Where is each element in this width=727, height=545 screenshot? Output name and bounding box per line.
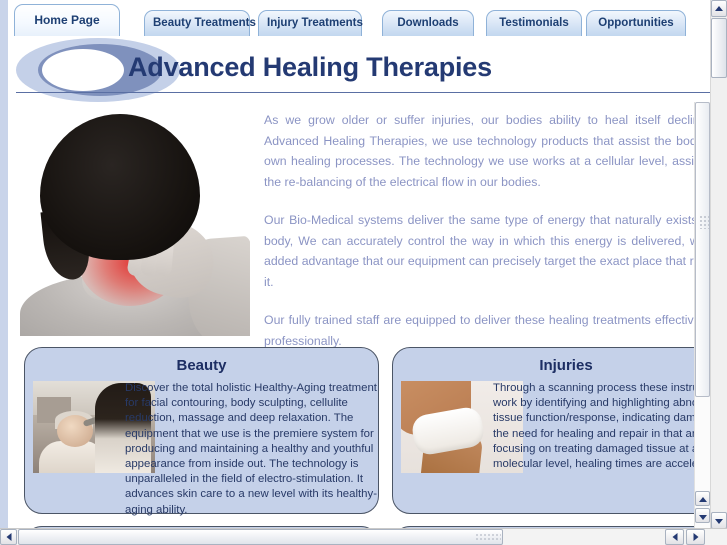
outer-horizontal-scrollbar[interactable]: [0, 528, 727, 545]
triangle-down-icon: [699, 515, 707, 520]
content-scroll-area: As we grow older or suffer injuries, our…: [8, 102, 710, 528]
card-beauty-text: Discover the total holistic Healthy-Agin…: [125, 381, 377, 518]
triangle-up-icon: [715, 6, 723, 11]
card-beauty[interactable]: Beauty Discover the total holistic Healt…: [24, 347, 379, 514]
browser-viewport: Home Page Beauty Treatments Injury Treat…: [0, 0, 727, 545]
tab-downloads[interactable]: Downloads: [382, 10, 474, 36]
tab-bar: Home Page Beauty Treatments Injury Treat…: [8, 0, 710, 36]
logo-white-ellipse: [42, 49, 124, 91]
intro-paragraph-3: Our fully trained staff are equipped to …: [264, 310, 710, 351]
tab-injury-treatments[interactable]: Injury Treatments: [258, 10, 362, 36]
outer-scroll-up-button[interactable]: [711, 0, 727, 17]
triangle-left-icon: [6, 533, 11, 541]
outer-hscrollbar-grip: [475, 533, 501, 542]
outer-scroll-down-button[interactable]: [711, 512, 727, 529]
tab-opportunities[interactable]: Opportunities: [586, 10, 686, 36]
card-injuries[interactable]: Injuries Through a scanning process thes…: [392, 347, 710, 514]
card-injuries-title: Injuries: [393, 357, 710, 374]
triangle-right-icon: [693, 533, 698, 541]
page-document: Home Page Beauty Treatments Injury Treat…: [0, 0, 710, 528]
inner-scroll-up-button[interactable]: [695, 491, 710, 506]
card-injuries-text: Through a scanning process these instrum…: [493, 381, 710, 472]
card-beauty-title: Beauty: [25, 357, 378, 374]
intro-section: As we grow older or suffer injuries, our…: [8, 102, 710, 338]
triangle-up-icon: [699, 497, 707, 502]
outer-hscrollbar-thumb[interactable]: [18, 529, 503, 545]
outer-scroll-left-button-2[interactable]: [665, 529, 684, 545]
hero-hair-shape: [40, 114, 200, 260]
tab-testimonials[interactable]: Testimonials: [486, 10, 582, 36]
outer-vertical-scrollbar[interactable]: [710, 0, 727, 529]
intro-paragraphs: As we grow older or suffer injuries, our…: [264, 110, 710, 369]
header-divider: [16, 92, 710, 93]
triangle-left-icon: [672, 533, 677, 541]
inner-scrollbar-grip: [699, 215, 709, 229]
inner-vertical-scrollbar[interactable]: [694, 102, 710, 528]
triangle-down-icon: [715, 519, 723, 524]
intro-paragraph-2: Our Bio-Medical systems deliver the same…: [264, 210, 710, 292]
outer-hscroll-button-pair[interactable]: [665, 529, 705, 545]
intro-paragraph-1: As we grow older or suffer injuries, our…: [264, 110, 710, 192]
outer-scroll-right-button[interactable]: [686, 529, 705, 545]
outer-scroll-left-button[interactable]: [0, 529, 17, 545]
inner-scrollbar-thumb[interactable]: [695, 102, 710, 397]
page-title: Advanced Healing Therapies: [128, 52, 492, 83]
inner-scroll-down-button[interactable]: [695, 508, 710, 523]
outer-scrollbar-thumb[interactable]: [711, 18, 727, 78]
tab-beauty-treatments[interactable]: Beauty Treatments: [144, 10, 250, 36]
site-header: Advanced Healing Therapies: [8, 36, 710, 102]
tab-home-page[interactable]: Home Page: [14, 4, 120, 36]
hero-neck-pain-image: [12, 106, 250, 336]
